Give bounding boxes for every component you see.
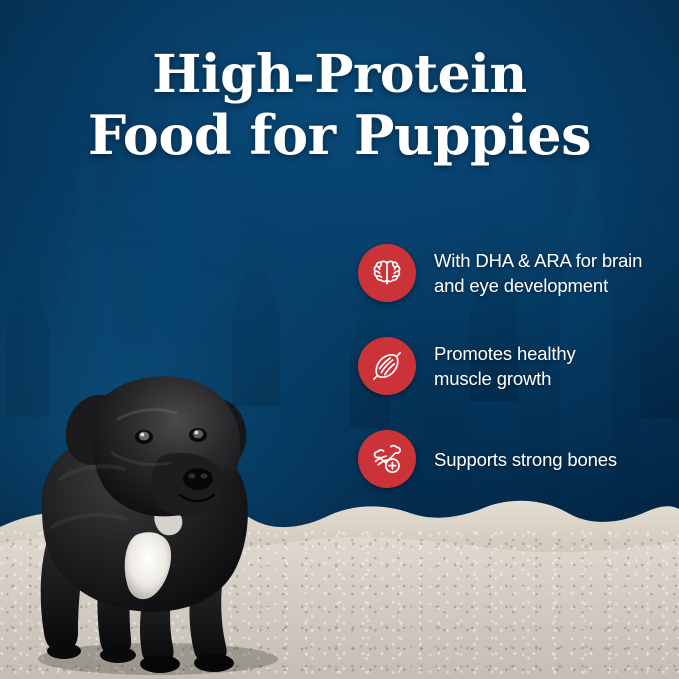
product-hero-banner: High-Protein Food for Puppies — [0, 0, 679, 679]
feature-item: Supports strong bones — [358, 430, 658, 488]
puppy-photo — [8, 359, 338, 679]
feature-label: With DHA & ARA for brain and eye develop… — [434, 248, 642, 298]
feature-label: Promotes healthy muscle growth — [434, 341, 576, 391]
muscle-icon — [358, 337, 416, 395]
feature-list: With DHA & ARA for brain and eye develop… — [358, 244, 658, 488]
brain-icon — [358, 244, 416, 302]
feature-label: Supports strong bones — [434, 447, 617, 472]
headline: High-Protein Food for Puppies — [0, 44, 679, 166]
headline-line-1: High-Protein — [0, 44, 679, 105]
headline-line-2: Food for Puppies — [0, 105, 679, 166]
feature-item: Promotes healthy muscle growth — [358, 337, 658, 395]
bone-joint-plus-icon — [358, 430, 416, 488]
feature-item: With DHA & ARA for brain and eye develop… — [358, 244, 658, 302]
